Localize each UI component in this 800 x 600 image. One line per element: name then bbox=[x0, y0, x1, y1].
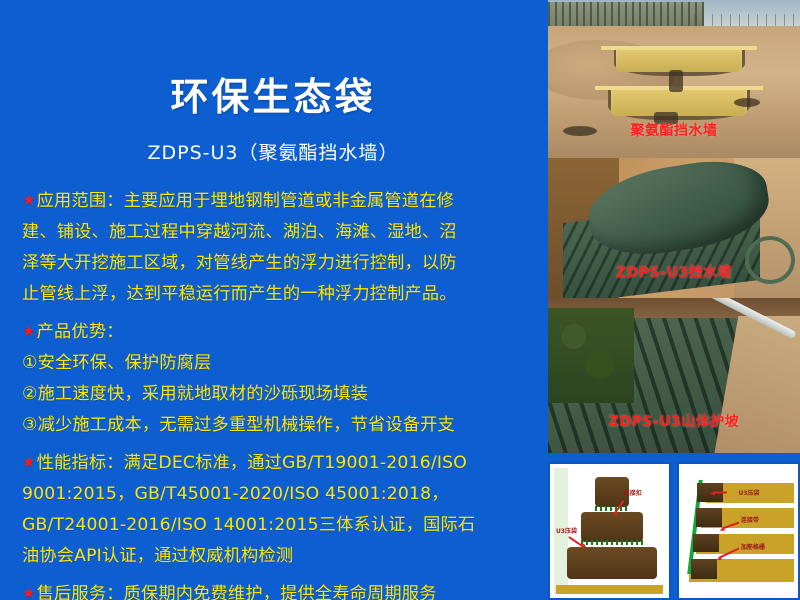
barrier-upper bbox=[616, 46, 742, 72]
section-advantages-heading-row: ★产品优势： bbox=[22, 316, 524, 348]
photo-zdps-u3-water-barrier: ZDPS-U3挡水墙 bbox=[548, 158, 800, 298]
photo-caption-1: 聚氨酯挡水墙 bbox=[548, 120, 800, 140]
advantage-item-1: ①安全环保、保护防腐层 bbox=[22, 348, 524, 379]
advantage-item-3: ③减少施工成本，无需过多重型机械操作，节省设备开支 bbox=[22, 410, 524, 441]
photo-caption-2: ZDPS-U3挡水墙 bbox=[548, 262, 800, 282]
body-content: ★应用范围：主要应用于埋地钢制管道或非金属管道在修 建、铺设、施工过程中穿越河流… bbox=[22, 185, 524, 600]
label-arrow-u3-bag bbox=[713, 492, 727, 494]
text-column: 环保生态袋 ZDPS-U3（聚氨酯挡水墙） ★应用范围：主要应用于埋地钢制管道或… bbox=[0, 0, 540, 600]
bag-layer-4 bbox=[691, 559, 717, 579]
section-performance-line-1: ★性能指标：满足DEC标准，通过GB/T19001-2016/ISO bbox=[22, 447, 524, 479]
section-application-text-1: 主要应用于埋地钢制管道或非金属管道在修 bbox=[124, 191, 454, 211]
bag-middle bbox=[581, 512, 643, 541]
section-service-text-1: 质保期内免费维护，提供全寿命周期服务 bbox=[124, 584, 437, 600]
section-application-line-3: 泽等大开挖施工区域，对管线产生的浮力进行控制，以防 bbox=[22, 248, 524, 279]
ground-base bbox=[556, 585, 663, 594]
vegetation-left bbox=[548, 308, 634, 403]
diagram-row: U3压袋 连接扣 U3压袋 连接带 加筋格栅 bbox=[548, 462, 800, 600]
pipe-segment bbox=[669, 70, 683, 92]
section-application-line-1: ★应用范围：主要应用于埋地钢制管道或非金属管道在修 bbox=[22, 185, 524, 217]
section-performance-text-1: 满足DEC标准，通过GB/T19001-2016/ISO bbox=[124, 453, 467, 473]
star-bullet-icon: ★ bbox=[22, 584, 36, 600]
diagram-label-u3-bag: U3压袋 bbox=[556, 526, 577, 535]
section-application-line-2: 建、铺设、施工过程中穿越河流、湖泊、海滩、湿地、沼 bbox=[22, 217, 524, 248]
section-service-line-1: ★售后服务：质保期内免费维护，提供全寿命周期服务 bbox=[22, 578, 524, 600]
diagram-slope-cross-section: U3压袋 连接带 加筋格栅 bbox=[677, 462, 800, 600]
diagram-label-u3-bag: U3压袋 bbox=[739, 488, 760, 497]
page-subtitle: ZDPS-U3（聚氨酯挡水墙） bbox=[22, 138, 524, 165]
advantage-item-2: ②施工速度快，采用就地取材的沙砾现场填装 bbox=[22, 379, 524, 410]
bag-layer-3 bbox=[693, 534, 719, 553]
page-title: 环保生态袋 bbox=[22, 78, 524, 116]
photo-zdps-u3-slope-protection: ZDPS-U3山体护坡 bbox=[548, 298, 800, 453]
bag-bottom bbox=[567, 547, 657, 579]
diagram-label-connector: 连接扣 bbox=[624, 488, 642, 497]
section-performance-line-4: 油协会API认证，通过权威机构检测 bbox=[22, 541, 524, 572]
star-bullet-icon: ★ bbox=[22, 191, 36, 209]
section-performance-line-3: GB/T24001-2016/ISO 14001:2015三体系认证，国际石 bbox=[22, 510, 524, 541]
section-application-heading: 应用范围： bbox=[37, 191, 124, 211]
connector-clip-upper bbox=[595, 506, 628, 511]
star-bullet-icon: ★ bbox=[22, 322, 36, 340]
bag-layer-2 bbox=[696, 508, 722, 527]
star-bullet-icon: ★ bbox=[22, 453, 36, 471]
section-performance-line-2: 9001:2015，GB/T45001-2020/ISO 45001:2018， bbox=[22, 479, 524, 510]
diagram-label-connecting-belt: 连接带 bbox=[741, 515, 759, 524]
connector-clip-lower bbox=[581, 540, 643, 545]
photo-polyurethane-water-barrier-trench: 聚氨酯挡水墙 bbox=[548, 0, 800, 158]
diagram-label-geogrid: 加筋格栅 bbox=[741, 542, 765, 551]
slide-canvas: 环保生态袋 ZDPS-U3（聚氨酯挡水墙） ★应用范围：主要应用于埋地钢制管道或… bbox=[0, 0, 800, 600]
diagram-stacked-bag-assembly: U3压袋 连接扣 bbox=[548, 462, 671, 600]
section-service-heading: 售后服务： bbox=[37, 584, 124, 600]
section-advantages-heading: 产品优势： bbox=[37, 322, 124, 342]
section-performance-heading: 性能指标： bbox=[37, 453, 124, 473]
photo-caption-3: ZDPS-U3山体护坡 bbox=[548, 411, 800, 431]
section-application-line-4: 止管线上浮，达到平稳运行而产生的一种浮力控制产品。 bbox=[22, 279, 524, 310]
